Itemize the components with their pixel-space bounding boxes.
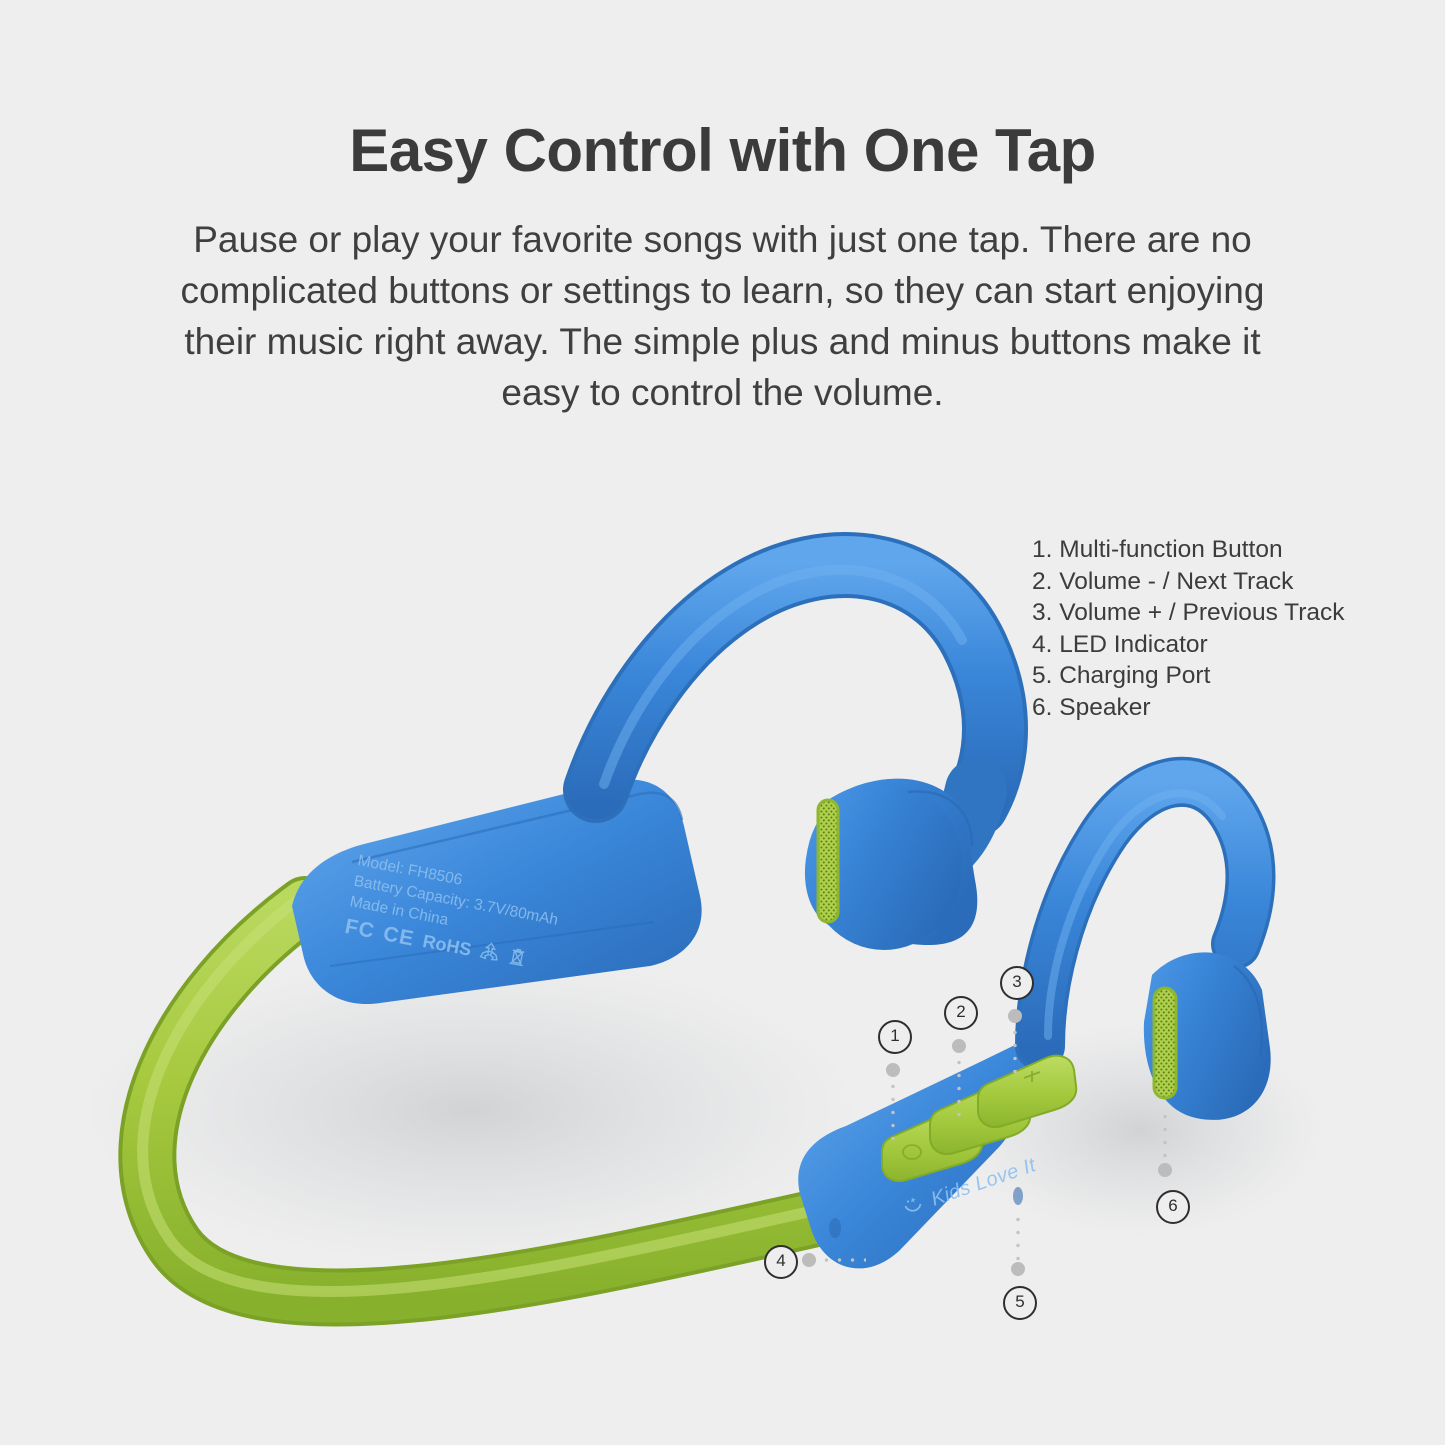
legend-item-2: 2. Volume - / Next Track (1032, 566, 1362, 598)
callout-6[interactable]: 6 (1156, 1190, 1190, 1224)
charging-port (1013, 1187, 1023, 1205)
callout-legend: 1. Multi-function Button 2. Volume - / N… (1032, 534, 1362, 723)
legend-item-1: 1. Multi-function Button (1032, 534, 1362, 566)
callout-6-dot (1158, 1163, 1172, 1177)
callout-6-leader (1162, 1110, 1168, 1160)
callout-5-leader (1015, 1213, 1021, 1261)
legend-item-5: 5. Charging Port (1032, 660, 1362, 692)
callout-2-dot (952, 1039, 966, 1053)
callout-2[interactable]: 2 (944, 996, 978, 1030)
speaker-grille-left (818, 800, 838, 922)
callout-3[interactable]: 3 (1000, 966, 1034, 1000)
legend-item-6: 6. Speaker (1032, 692, 1362, 724)
callout-4-leader (820, 1257, 866, 1263)
led-indicator (829, 1218, 841, 1238)
product-feature-page: Easy Control with One Tap Pause or play … (0, 0, 1445, 1445)
callout-3-dot (1008, 1009, 1022, 1023)
callout-5-dot (1011, 1262, 1025, 1276)
callout-2-leader (956, 1056, 962, 1118)
callout-4-dot (802, 1253, 816, 1267)
callout-3-leader (1012, 1026, 1018, 1074)
callout-5[interactable]: 5 (1003, 1286, 1037, 1320)
speaker-grille-right (1154, 988, 1176, 1098)
legend-item-3: 3. Volume + / Previous Track (1032, 597, 1362, 629)
callout-1[interactable]: 1 (878, 1020, 912, 1054)
callout-1-leader (890, 1080, 896, 1148)
legend-item-4: 4. LED Indicator (1032, 629, 1362, 661)
callout-1-dot (886, 1063, 900, 1077)
callout-4[interactable]: 4 (764, 1245, 798, 1279)
